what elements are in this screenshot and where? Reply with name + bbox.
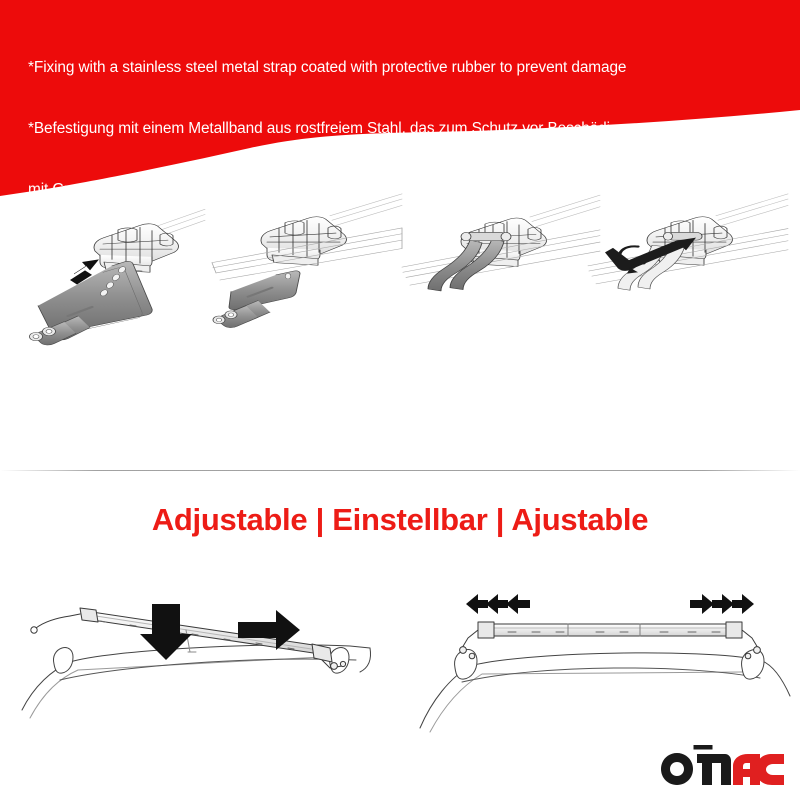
logo-letter-a [733, 754, 760, 785]
page-title-adjustable: Adjustable | Einstellbar | Ajustable [0, 500, 800, 540]
panel-4-group [588, 194, 788, 290]
bottom-illustrations [0, 560, 800, 740]
omac-logo [655, 738, 790, 790]
instruction-panels-strip [0, 190, 800, 470]
logo-letter-o [661, 753, 693, 785]
crossbar-placement-diagram [22, 604, 371, 718]
logo-macron [694, 745, 713, 750]
panel-2-group [212, 194, 402, 328]
triple-right-arrow [690, 594, 754, 614]
omac-logo-mark [655, 738, 790, 790]
banner-line-2: *Befestigung mit einem Metallband aus ro… [28, 119, 780, 139]
crossbar-diagrams [0, 560, 800, 740]
banner-line-1: *Fixing with a stainless steel metal str… [28, 58, 780, 78]
panel-3-group [402, 195, 600, 291]
section-divider [0, 470, 800, 471]
banner-red-wave: *Fixing with a stainless steel metal str… [0, 0, 800, 200]
logo-letter-m [697, 754, 731, 785]
instruction-panels-drawing [0, 190, 800, 370]
panel-1-group [30, 209, 206, 370]
product-infographic-page: *Fixing with a stainless steel metal str… [0, 0, 800, 800]
logo-letter-c [756, 754, 784, 785]
crossbar-width-adjust-diagram [420, 594, 790, 732]
triple-left-arrow [466, 594, 530, 614]
